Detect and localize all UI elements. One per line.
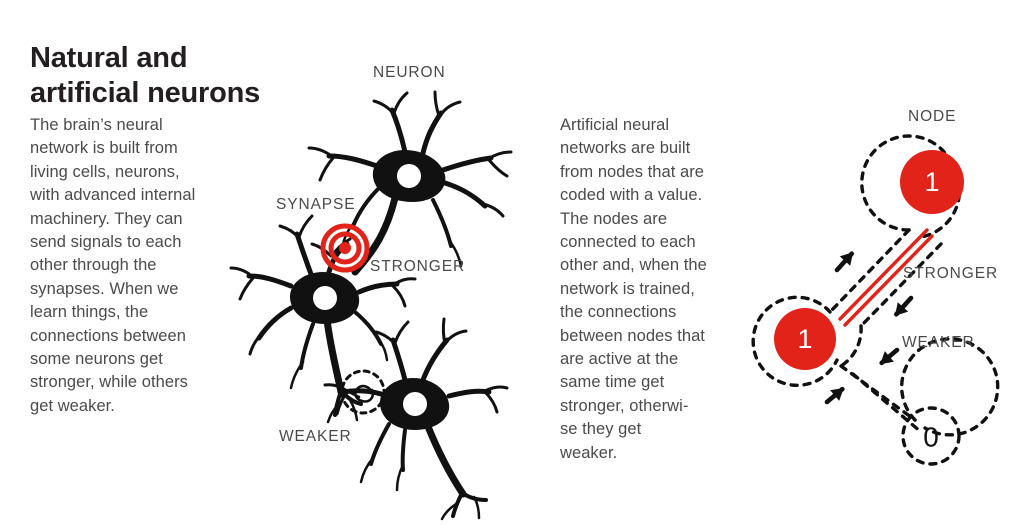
body-line: other through the xyxy=(30,254,243,277)
body-line: get weaker. xyxy=(30,395,243,418)
body-line: The brain’s neural xyxy=(30,114,243,137)
body-line: weaker. xyxy=(560,442,745,465)
body-line: send signals to each xyxy=(30,231,243,254)
body-line: learn things, the xyxy=(30,301,243,324)
body-line: network is built from xyxy=(30,137,243,160)
axon-bottom xyxy=(427,424,463,494)
artificial-network-diagram: 1 1 0 xyxy=(775,120,1024,490)
label-weaker-biological: WEAKER xyxy=(279,428,352,446)
label-node: NODE xyxy=(908,108,956,126)
body-line: between nodes that xyxy=(560,325,745,348)
axon-middle xyxy=(327,320,341,392)
body-line: The nodes are xyxy=(560,208,745,231)
body-line: synapses. When we xyxy=(30,278,243,301)
arrow-weaker-inward xyxy=(823,345,902,408)
nucleus-middle xyxy=(313,286,337,310)
label-stronger-artificial: STRONGER xyxy=(903,265,998,283)
synapse-marker-stronger xyxy=(323,226,367,270)
body-line: with advanced internal xyxy=(30,184,243,207)
label-weaker-artificial: WEAKER xyxy=(902,334,975,352)
nucleus-bottom xyxy=(403,392,427,416)
infographic-canvas: Natural and artificial neurons The brain… xyxy=(0,0,1024,530)
body-line: same time get xyxy=(560,371,745,394)
node-middle-value: 1 xyxy=(797,324,812,354)
body-line: living cells, neurons, xyxy=(30,161,243,184)
body-line: the connections xyxy=(560,301,745,324)
middle-body-text: Artificial neural networks are built fro… xyxy=(560,114,745,465)
body-line: se they get xyxy=(560,418,745,441)
body-line: some neurons get xyxy=(30,348,243,371)
title-line-1: Natural and xyxy=(30,41,330,76)
body-line: connected to each xyxy=(560,231,745,254)
biological-neuron-diagram xyxy=(255,80,525,530)
node-bottom[interactable]: 0 xyxy=(923,422,939,453)
nucleus-top xyxy=(397,164,421,188)
body-line: Artificial neural xyxy=(560,114,745,137)
label-synapse: SYNAPSE xyxy=(276,196,356,214)
body-line: network is trained, xyxy=(560,278,745,301)
body-line: machinery. They can xyxy=(30,208,243,231)
label-stronger-biological: STRONGER xyxy=(370,258,465,276)
body-line: other and, when the xyxy=(560,254,745,277)
body-line: connections between xyxy=(30,325,243,348)
body-line: stronger, otherwi- xyxy=(560,395,745,418)
label-neuron: NEURON xyxy=(373,64,446,82)
node-bottom-value: 0 xyxy=(923,422,939,453)
node-middle[interactable]: 1 xyxy=(774,308,836,370)
left-body-text: The brain’s neural network is built from… xyxy=(30,114,243,418)
body-line: from nodes that are xyxy=(560,161,745,184)
node-top-value: 1 xyxy=(924,167,939,197)
body-line: stronger, while others xyxy=(30,371,243,394)
node-top[interactable]: 1 xyxy=(900,150,964,214)
neuron-bottom xyxy=(325,319,507,519)
body-line: networks are built xyxy=(560,137,745,160)
body-line: are active at the xyxy=(560,348,745,371)
body-line: coded with a value. xyxy=(560,184,745,207)
